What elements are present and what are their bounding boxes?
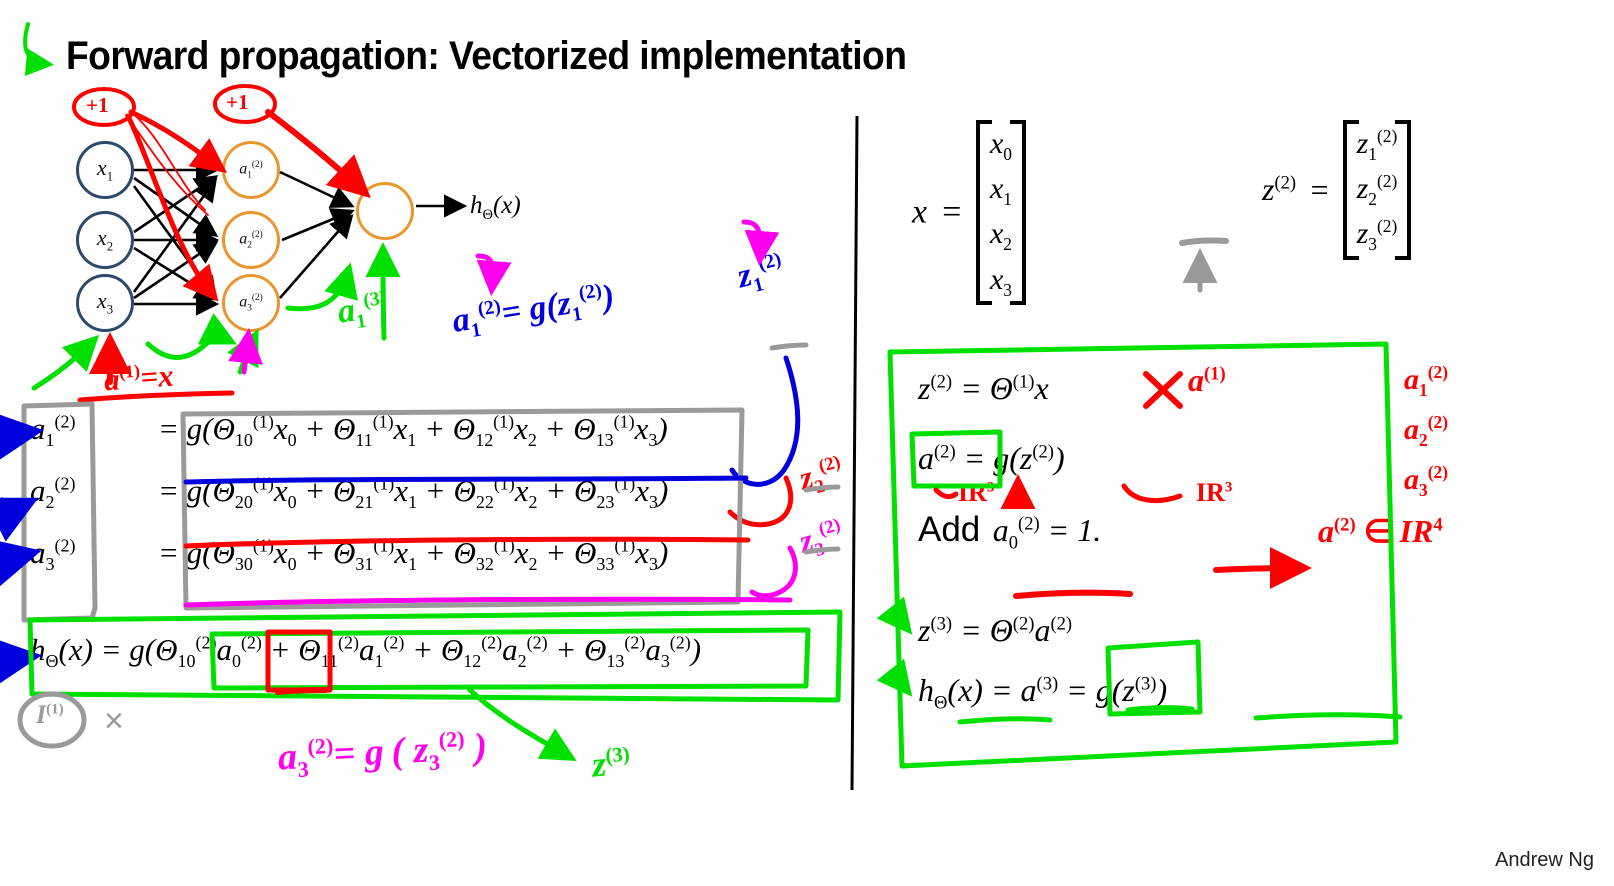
hypothesis-equation: hΘ(x) = g(Θ10(2)a0(2) + Θ11(2)a1(2) + Θ1… — [30, 632, 701, 672]
x-vector-equals: = — [932, 193, 972, 230]
eq-row-2-lhs: a3(2) — [30, 535, 158, 575]
magenta-down-arrow-2 — [744, 222, 760, 256]
equation-z3: z(3) = Θ(2)a(2) — [918, 612, 1072, 649]
z-vector-entry-1: z2(2) — [1357, 167, 1398, 212]
x-vector-entry-0: x0 — [990, 122, 1012, 167]
input-node-x2-label: x2 — [97, 225, 113, 254]
equation-h: hΘ(x) = a(3) = g(z(3)) — [918, 672, 1167, 714]
x-vector-bracket: x0 x1 x2 x3 — [976, 120, 1026, 305]
blue-arrow-hrow — [0, 657, 28, 662]
network-edges-layer2 — [280, 172, 350, 298]
green-arrow-to-x3 — [34, 342, 92, 388]
bias-node-input: +1 — [74, 91, 136, 125]
hypothesis-output-label: hΘ(x) — [470, 192, 521, 224]
input-node-x1: x1 — [76, 141, 134, 199]
table-row: a2(2) = g(Θ20(1)x0 + Θ21(1)x1 + Θ22(1)x2… — [30, 462, 668, 524]
x-vector-entry-1: x1 — [990, 167, 1012, 212]
add-expression: a0(2) = 1. — [985, 512, 1102, 548]
annotation-red-a1-2: a1(2) — [1404, 362, 1448, 401]
z-vector-equals: = — [1301, 171, 1339, 207]
red-hook-r3-right — [1124, 486, 1180, 501]
annotation-magenta-z3: z3(2) — [795, 513, 848, 566]
hidden-node-a2-label: a2(2) — [239, 230, 262, 251]
green-arrow-z3-row — [884, 619, 906, 627]
eq-row-0-rhs: = g(Θ10(1)x0 + Θ11(1)x1 + Θ12(1)x2 + Θ13… — [158, 411, 668, 451]
z-vector-label: z(2) — [1262, 171, 1296, 207]
blue-curve-to-eq1 — [732, 358, 798, 484]
annotation-red-a1-exponent: a(1) — [1188, 362, 1226, 399]
eq-row-2-rhs: = g(Θ30(1)x0 + Θ31(1)x1 + Θ32(1)x2 + Θ33… — [158, 535, 668, 575]
bias-node-hidden: +1 — [214, 88, 276, 122]
blue-arrow-row1 — [0, 432, 30, 436]
gray-dash-under-z2 — [1182, 240, 1226, 243]
table-row: a3(2) = g(Θ30(1)x0 + Θ31(1)x1 + Θ32(1)x2… — [30, 524, 668, 586]
magenta-curve-to-eq3 — [752, 548, 795, 596]
add-label: Add — [918, 510, 980, 549]
blue-arrow-row2 — [0, 500, 26, 506]
bias-node-input-label: +1 — [86, 93, 108, 118]
x-vector-label: x — [912, 193, 927, 230]
annotation-green-z3: z(3) — [590, 740, 632, 785]
annotation-gray-x-mark: × — [104, 702, 124, 741]
magenta-arrow-to-a3 — [244, 338, 248, 372]
green-arrow-h-row — [884, 681, 906, 689]
eq-row-1-rhs: = g(Θ20(1)x0 + Θ21(1)x1 + Θ22(1)x2 + Θ23… — [158, 473, 668, 513]
red-curve-to-eq2 — [730, 478, 791, 525]
equation-h-a3: a(3) — [1021, 672, 1059, 708]
z-vector-entry-2: z3(2) — [1357, 212, 1398, 257]
red-underline-add — [1016, 593, 1130, 596]
annotation-red-z2: z2(2) — [795, 450, 848, 503]
bias-edge-output — [268, 112, 362, 190]
table-row: a1(2) = g(Θ10(1)x0 + Θ11(1)x1 + Θ12(1)x2… — [30, 400, 668, 462]
z-vector-entry-0: z1(2) — [1357, 122, 1398, 167]
hidden-node-a1-label: a1(2) — [239, 160, 262, 181]
author-credit: Andrew Ng — [1495, 849, 1594, 872]
x-vector: x = x0 x1 x2 x3 — [912, 120, 1026, 305]
annotation-red-a2-2: a2(2) — [1404, 412, 1448, 451]
green-underline-h-rhs — [1256, 715, 1400, 718]
eq-row-1-lhs: a2(2) — [30, 473, 158, 513]
green-squiggle-under-inputs — [148, 338, 228, 358]
annotation-blue-z1: z1(2) — [733, 248, 788, 301]
x-vector-entry-3: x3 — [990, 258, 1012, 303]
annotation-a2-in-r4: a(2) ∈ IR4 — [1318, 512, 1443, 550]
title-pointer-arrow — [25, 24, 46, 64]
hidden-activation-equations: a1(2) = g(Θ10(1)x0 + Θ11(1)x1 + Θ12(1)x2… — [30, 400, 668, 586]
input-node-x2: x2 — [76, 211, 134, 269]
z-vector-bracket: z1(2) z2(2) z3(2) — [1343, 120, 1412, 260]
blue-arrow-row3 — [0, 554, 28, 560]
eq-row-0-lhs: a1(2) — [30, 411, 158, 451]
page-title: Forward propagation: Vectorized implemen… — [66, 34, 906, 79]
red-arrow-after-add — [1216, 568, 1300, 570]
annotation-a1-equals-x: a(1)=x — [103, 358, 175, 399]
equation-z2: z(2) = Θ(1)x — [918, 370, 1049, 407]
equation-add-a0: Add a0(2) = 1. — [918, 510, 1101, 554]
hidden-node-a2: a2(2) — [222, 211, 280, 269]
input-node-x3: x3 — [76, 274, 134, 332]
bias-edges-red — [126, 112, 219, 294]
output-node — [356, 182, 414, 240]
annotation-r3-right: IR3 — [1196, 478, 1232, 508]
annotation-magenta-a3-formula: a3(2)= g ( z3(2) ) — [277, 725, 489, 784]
red-hook-r3-left — [936, 490, 956, 497]
network-edges-layer1 — [134, 170, 214, 304]
gray-dash-under-z1 — [772, 345, 806, 348]
annotation-red-a3-2: a3(2) — [1404, 462, 1448, 501]
input-node-x1-label: x1 — [97, 155, 113, 184]
annotation-r3-left: IR3 — [958, 478, 994, 508]
annotation-green-a1-3: a1(3) — [335, 287, 390, 337]
magenta-underline-row3 — [186, 599, 790, 605]
hidden-node-a3: a3(2) — [222, 274, 280, 332]
x-vector-entry-2: x2 — [990, 212, 1012, 257]
annotation-gray-circled-i: I(1) — [36, 700, 64, 730]
input-node-x3-label: x3 — [97, 288, 113, 317]
red-strikethrough-x — [1146, 374, 1180, 406]
annotation-blue-a1-formula: a1(2)= g(z1(2)) — [450, 277, 618, 345]
bias-node-hidden-label: +1 — [226, 90, 248, 115]
green-arrow-to-a3 — [240, 338, 254, 372]
column-divider — [852, 116, 857, 790]
magenta-down-arrow — [478, 256, 493, 286]
equation-a2: a(2) = g(z(2)) — [918, 440, 1065, 477]
hidden-node-a3-label: a3(2) — [239, 293, 262, 314]
hidden-node-a1: a1(2) — [222, 141, 280, 199]
green-underline-h-lhs — [960, 719, 1050, 722]
red-underline-a0 — [278, 690, 326, 692]
z-vector: z(2) = z1(2) z2(2) z3(2) — [1262, 120, 1411, 260]
slide-canvas: Forward propagation: Vectorized implemen… — [0, 0, 1614, 886]
